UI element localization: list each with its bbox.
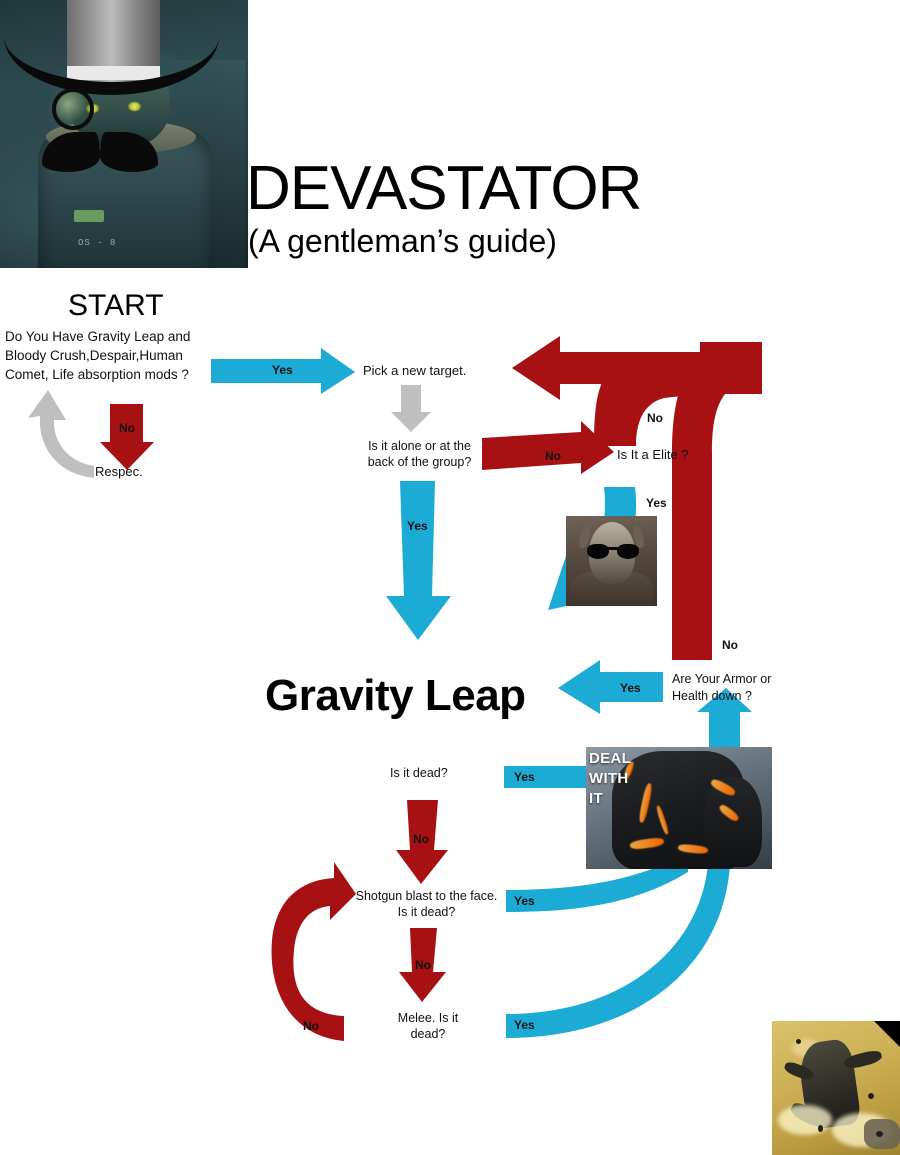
node-shotgun-blast: Shotgun blast to the face. Is it dead?	[354, 888, 499, 920]
debris-speck	[876, 1131, 883, 1137]
node-question-mods: Do You Have Gravity Leap and Bloody Crus…	[5, 327, 205, 384]
edge-label-shotgun-no: No	[415, 958, 431, 972]
node-pick-new-target: Pick a new target.	[363, 362, 466, 379]
edge-alone-no-arrow	[482, 421, 614, 474]
edge-label-elite-yes: Yes	[646, 496, 667, 510]
node-gravity-leap: Gravity Leap	[265, 672, 526, 720]
edge-label-start-no: No	[119, 421, 135, 435]
deal-line-3: IT	[589, 789, 631, 809]
debris-speck	[796, 1039, 801, 1044]
flowchart-canvas: OS - 8 DEVASTATOR (A gentleman’s guide)	[0, 0, 900, 1155]
edge-label-melee-no: No	[303, 1019, 319, 1033]
arrow-layer	[0, 0, 900, 1155]
edge-alone-yes-arrow	[386, 481, 451, 640]
sunglasses-icon	[587, 544, 639, 560]
node-question-armor-health: Are Your Armor or Health down ?	[672, 671, 787, 705]
ground-pound-image	[772, 1021, 900, 1155]
edge-label-melee-yes: Yes	[514, 1018, 535, 1032]
edge-label-armor-yes: Yes	[620, 681, 641, 695]
edge-pick-to-alone-arrow	[391, 385, 431, 432]
debris-speck	[818, 1125, 823, 1132]
edge-label-armor-no: No	[722, 638, 738, 652]
node-question-alone-or-back: Is it alone or at the back of the group?	[362, 438, 477, 470]
edge-label-dead1-yes: Yes	[514, 770, 535, 784]
sunglasses-lens-left	[587, 544, 609, 559]
node-question-is-it-dead: Is it dead?	[390, 765, 448, 782]
debris-speck	[868, 1093, 874, 1099]
edge-label-alone-no: No	[545, 449, 561, 463]
image-corner-fold	[874, 1021, 900, 1047]
start-label: START	[68, 290, 164, 322]
edge-label-elite-no: No	[647, 411, 663, 425]
deal-with-it-overlay-text: DEAL WITH IT	[589, 749, 631, 809]
node-melee: Melee. Is it dead?	[388, 1010, 468, 1042]
sunglasses-lens-right	[617, 544, 639, 559]
edge-label-dead1-no: No	[413, 832, 429, 846]
node-question-is-elite: Is It a Elite ?	[617, 446, 689, 463]
edge-red-merge-arrowhead	[700, 342, 762, 394]
edge-label-shotgun-yes: Yes	[514, 894, 535, 908]
edge-label-alone-yes: Yes	[407, 519, 428, 533]
elite-enemy-image	[566, 516, 657, 606]
deal-with-it-image: DEAL WITH IT	[586, 747, 772, 869]
dust-cloud	[778, 1105, 832, 1135]
deal-line-1: DEAL	[589, 749, 631, 769]
edge-respec-loop-arrow	[28, 390, 94, 478]
edge-armor-yes-arrow	[558, 660, 663, 714]
edge-start-no-arrow	[100, 404, 154, 470]
node-respec: Respec.	[95, 463, 143, 480]
deal-line-2: WITH	[589, 769, 631, 789]
edge-label-start-yes: Yes	[272, 363, 293, 377]
edge-melee-no-band	[272, 862, 356, 1041]
